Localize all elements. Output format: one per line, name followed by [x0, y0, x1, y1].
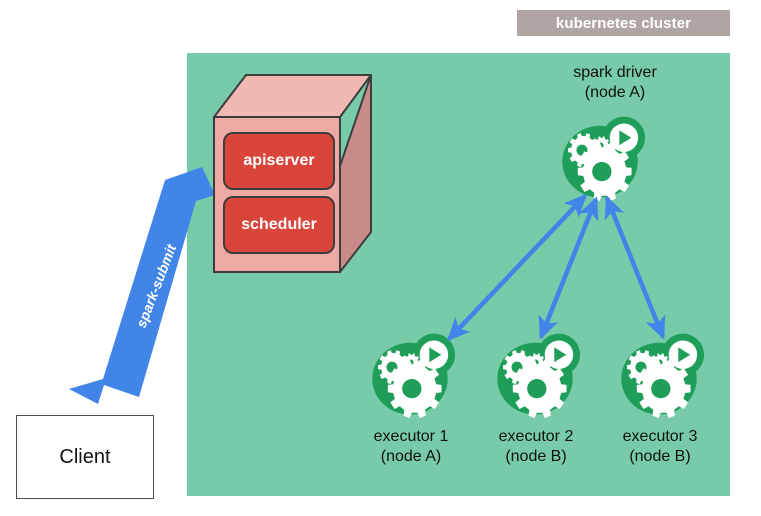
spark-driver-label: spark driver (node A) [545, 63, 685, 103]
executor-2-label: executor 2 (node B) [466, 427, 606, 467]
executor-2-name: executor 2 [466, 427, 606, 447]
scheduler-component[interactable]: scheduler [223, 196, 335, 254]
executor-3-node: (node B) [590, 447, 730, 467]
diagram-canvas: kubernetes cluster [0, 0, 761, 516]
executor-3-node-icon [621, 334, 704, 419]
executor-2-node: (node B) [466, 447, 606, 467]
executor-1-name: executor 1 [341, 427, 481, 447]
client-label: Client [59, 446, 110, 469]
driver-executor-connectors [449, 196, 663, 339]
executor-1-label: executor 1 (node A) [341, 427, 481, 467]
apiserver-label: apiserver [243, 152, 314, 170]
connector-driver-executor-2 [541, 199, 596, 337]
executor-1-node: (node A) [341, 447, 481, 467]
executor-1-node-icon [372, 334, 455, 419]
spark-submit-arrow [69, 167, 215, 404]
connector-driver-executor-1 [449, 196, 585, 339]
executor-2-node-icon [497, 334, 580, 419]
spark-driver-node-icon [562, 117, 645, 202]
apiserver-component[interactable]: apiserver [223, 132, 335, 190]
spark-driver-name: spark driver [545, 63, 685, 83]
client-box[interactable]: Client [16, 415, 154, 499]
scheduler-label: scheduler [241, 216, 317, 234]
executor-3-label: executor 3 (node B) [590, 427, 730, 467]
executor-3-name: executor 3 [590, 427, 730, 447]
spark-driver-node: (node A) [545, 83, 685, 103]
connector-driver-executor-3 [607, 198, 663, 337]
